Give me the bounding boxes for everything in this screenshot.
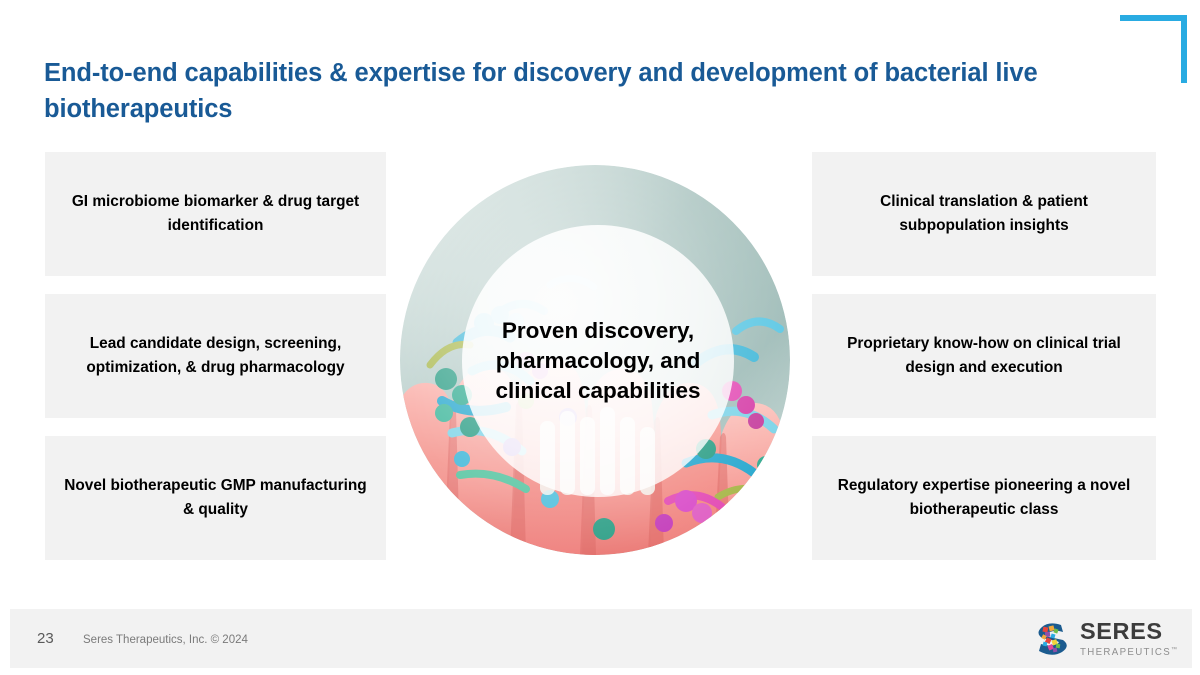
logo-name: SERES <box>1080 620 1178 644</box>
slide-canvas: { "slide": { "title": "End-to-end capabi… <box>0 0 1200 675</box>
capability-label: Clinical translation & patient subpopula… <box>826 190 1142 238</box>
corner-bracket-accent <box>1120 15 1187 83</box>
capability-box-right-1: Clinical translation & patient subpopula… <box>812 152 1156 276</box>
capability-box-right-3: Regulatory expertise pioneering a novel … <box>812 436 1156 560</box>
capability-box-right-2: Proprietary know-how on clinical trial d… <box>812 294 1156 418</box>
center-graphic: Proven discovery, pharmacology, and clin… <box>400 165 790 555</box>
seres-wordmark: SERES THERAPEUTICS™ <box>1080 620 1178 657</box>
logo-tagline-text: THERAPEUTICS <box>1080 647 1171 658</box>
center-text-lens: Proven discovery, pharmacology, and clin… <box>462 225 734 497</box>
page-number: 23 <box>37 630 54 647</box>
seres-logo: SERES THERAPEUTICS™ <box>1030 615 1180 663</box>
capability-label: Lead candidate design, screening, optimi… <box>59 332 372 380</box>
capability-label: GI microbiome biomarker & drug target id… <box>59 190 372 238</box>
trademark-symbol: ™ <box>1171 647 1178 653</box>
seres-logo-mark <box>1030 617 1074 661</box>
capability-label: Novel biotherapeutic GMP manufacturing &… <box>59 474 372 522</box>
capability-box-left-2: Lead candidate design, screening, optimi… <box>45 294 386 418</box>
capability-label: Proprietary know-how on clinical trial d… <box>826 332 1142 380</box>
page-title: End-to-end capabilities & expertise for … <box>44 55 1054 127</box>
copyright-notice: Seres Therapeutics, Inc. © 2024 <box>83 634 248 646</box>
capability-box-left-1: GI microbiome biomarker & drug target id… <box>45 152 386 276</box>
center-headline: Proven discovery, pharmacology, and clin… <box>462 316 734 406</box>
capability-label: Regulatory expertise pioneering a novel … <box>826 474 1142 522</box>
capability-box-left-3: Novel biotherapeutic GMP manufacturing &… <box>45 436 386 560</box>
logo-tagline: THERAPEUTICS™ <box>1080 647 1178 658</box>
